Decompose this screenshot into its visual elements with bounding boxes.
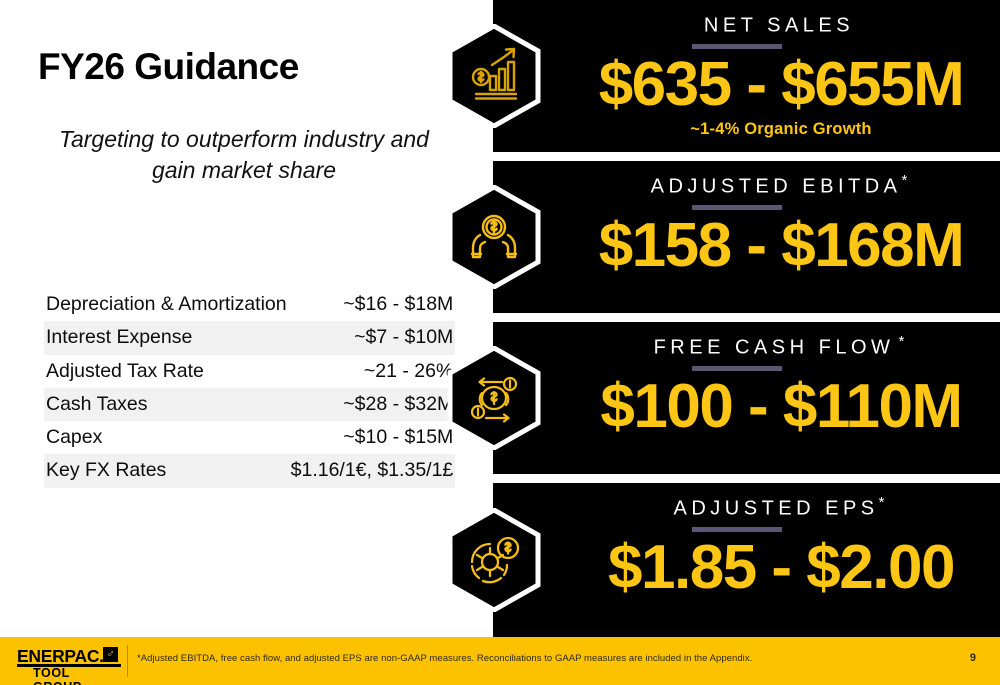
panel-value-adjusted-ebitda: $158 - $168M — [568, 213, 994, 278]
panel-title-net-sales: NET SALES — [568, 11, 990, 38]
logo-wordmark-tool-group: TOOL GROUP — [33, 666, 121, 685]
footnote-text: *Adjusted EBITDA, free cash flow, and ad… — [137, 653, 752, 664]
panel-value-adjusted-eps: $1.85 - $2.00 — [568, 535, 994, 600]
cash-flow-coins-icon — [446, 346, 542, 450]
table-row: Adjusted Tax Rate ~21 - 26% — [44, 355, 455, 388]
panel-inner: ADJUSTED EBITDA* $158 - $168M — [493, 161, 1000, 313]
panel-title-text: FREE CASH FLOW — [654, 337, 895, 359]
row-metric-label: Depreciation & Amortization — [44, 288, 289, 321]
panel-title-text: ADJUSTED EPS — [674, 498, 879, 520]
panel-divider-rule — [692, 527, 782, 532]
bar-chart-growth-icon — [446, 24, 542, 128]
panel-title-free-cash-flow: FREE CASH FLOW * — [568, 333, 990, 360]
metric-panel-adjusted-eps: ADJUSTED EPS* $1.85 - $2.00 — [493, 483, 1000, 637]
panel-inner: NET SALES $635 - $655M ~1-4% Organic Gro… — [493, 0, 1000, 152]
row-metric-value: ~$28 - $32M — [289, 388, 456, 421]
page-number: 9 — [970, 652, 976, 664]
panel-divider-rule — [692, 205, 782, 210]
panel-title-text: ADJUSTED EBITDA — [651, 176, 902, 198]
row-metric-label: Key FX Rates — [44, 454, 289, 487]
panel-title-asterisk: * — [879, 494, 885, 511]
pie-chart-coin-icon — [446, 508, 542, 612]
row-metric-label: Cash Taxes — [44, 388, 289, 421]
panel-divider-rule — [692, 366, 782, 371]
guidance-assumptions-table: Depreciation & Amortization ~$16 - $18M … — [44, 288, 455, 488]
table-row: Interest Expense ~$7 - $10M — [44, 321, 455, 354]
enerpac-mark-icon: ♂ — [103, 647, 118, 662]
panel-title-asterisk: * — [902, 172, 908, 189]
footer-divider — [127, 645, 128, 677]
panel-title-adjusted-eps: ADJUSTED EPS* — [568, 494, 990, 521]
left-content-column: FY26 Guidance Targeting to outperform in… — [0, 0, 493, 637]
hands-holding-coin-icon — [446, 185, 542, 289]
table-row: Capex ~$10 - $15M — [44, 421, 455, 454]
slide-subtitle: Targeting to outperform industry and gai… — [44, 124, 444, 186]
row-metric-value: $1.16/1€, $1.35/1£ — [289, 454, 456, 487]
panel-title-adjusted-ebitda: ADJUSTED EBITDA* — [568, 172, 990, 199]
table-body: Depreciation & Amortization ~$16 - $18M … — [44, 288, 455, 488]
panel-value-net-sales: $635 - $655M — [568, 52, 994, 117]
metric-panel-free-cash-flow: FREE CASH FLOW * $100 - $110M — [493, 322, 1000, 474]
panel-value-free-cash-flow: $100 - $110M — [568, 374, 994, 439]
panel-note-net-sales: ~1-4% Organic Growth — [568, 120, 994, 139]
row-metric-label: Capex — [44, 421, 289, 454]
row-metric-value: ~$10 - $15M — [289, 421, 456, 454]
panel-divider-rule — [692, 44, 782, 49]
metric-panel-adjusted-ebitda: ADJUSTED EBITDA* $158 - $168M — [493, 161, 1000, 313]
table-row: Cash Taxes ~$28 - $32M — [44, 388, 455, 421]
row-metric-value: ~21 - 26% — [289, 355, 456, 388]
slide-canvas: FY26 Guidance Targeting to outperform in… — [0, 0, 1000, 685]
metric-panel-net-sales: NET SALES $635 - $655M ~1-4% Organic Gro… — [493, 0, 1000, 152]
panel-title-asterisk: * — [894, 333, 904, 350]
row-metric-value: ~$7 - $10M — [289, 321, 456, 354]
table-row: Depreciation & Amortization ~$16 - $18M — [44, 288, 455, 321]
panel-inner: ADJUSTED EPS* $1.85 - $2.00 — [493, 483, 1000, 637]
row-metric-label: Adjusted Tax Rate — [44, 355, 289, 388]
panel-title-text: NET SALES — [704, 15, 854, 37]
enerpac-tool-group-logo: ENERPAC. ♂ TOOL GROUP — [17, 646, 121, 676]
row-metric-value: ~$16 - $18M — [289, 288, 456, 321]
panel-inner: FREE CASH FLOW * $100 - $110M — [493, 322, 1000, 474]
table-row: Key FX Rates $1.16/1€, $1.35/1£ — [44, 454, 455, 487]
row-metric-label: Interest Expense — [44, 321, 289, 354]
page-title: FY26 Guidance — [38, 46, 299, 88]
